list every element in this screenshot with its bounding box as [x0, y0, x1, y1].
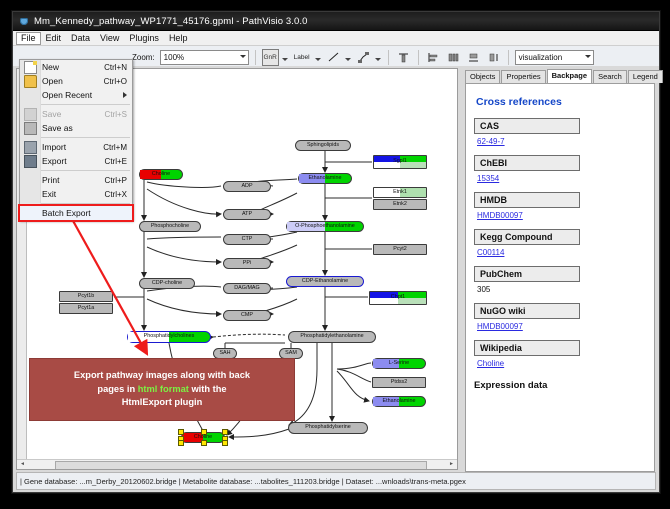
menu-bar: File Edit Data View Plugins Help [13, 31, 659, 46]
cross-references-title: Cross references [476, 96, 646, 108]
annotation-line-2-a: pages in [97, 384, 137, 394]
interaction-button[interactable] [355, 49, 372, 66]
xref-db-label-chebi: ChEBI [474, 155, 580, 171]
status-bar: | Gene database: ...m_Derby_20120602.bri… [16, 472, 656, 490]
menu-plugins[interactable]: Plugins [124, 32, 164, 45]
tab-search[interactable]: Search [593, 70, 627, 83]
window-title: Mm_Kennedy_pathway_WP1771_45176.gpml - P… [34, 16, 308, 27]
pathway-node-label: Pcyt1b [78, 294, 94, 299]
align-top-icon [397, 51, 410, 64]
zoom-label: Zoom: [132, 53, 155, 62]
new-document-icon [24, 61, 37, 74]
pathway-node-label: Ethanolamine [383, 399, 416, 404]
zoom-combobox[interactable]: 100% [160, 50, 249, 65]
file-menu-separator [41, 203, 130, 204]
file-menu-item-export[interactable]: ExportCtrl+E [20, 154, 132, 168]
align-left-icon [427, 51, 440, 64]
xref-db-label-nugo-wiki: NuGO wiki [474, 303, 580, 319]
xref-db-label-cas: CAS [474, 118, 580, 134]
pathway-node-phosphatidylcholines[interactable]: Phosphatidylcholines [127, 331, 211, 343]
pathway-node-label: Sgpl1 [393, 159, 407, 164]
pathvisio-window: Mm_Kennedy_pathway_WP1771_45176.gpml - P… [12, 11, 660, 493]
file-menu-item-label: Exit [42, 189, 56, 199]
toolbar-separator-4 [508, 50, 509, 65]
label-dropdown-icon[interactable] [315, 58, 321, 61]
pathway-node-label: Etnk2 [393, 202, 407, 207]
file-menu-item-label: Save [42, 109, 61, 119]
save-as-icon [24, 122, 37, 135]
pathway-node-pcyt1b[interactable]: Pcyt1b [59, 291, 113, 302]
pathway-node-cdp-choline[interactable]: CDP-choline [139, 278, 195, 289]
selection-handle[interactable] [178, 440, 184, 446]
pathway-node-label: Pcyt2 [393, 247, 406, 252]
menu-file[interactable]: File [16, 32, 41, 45]
tab-legend[interactable]: Legend [628, 70, 663, 83]
xref-value-kegg-compound[interactable]: C00114 [477, 248, 646, 257]
tab-properties[interactable]: Properties [501, 70, 545, 83]
file-menu-item-accelerator: Ctrl+E [105, 157, 127, 166]
pathway-node-label: Phosphatidylethanolamine [300, 334, 363, 339]
pathway-node-adp[interactable]: ADP [223, 181, 271, 192]
export-icon [24, 155, 37, 168]
file-menu-item-print[interactable]: PrintCtrl+P [20, 173, 132, 187]
pathway-node-cdp-ethanolamine[interactable]: CDP-Ethanolamine [286, 276, 364, 287]
menu-edit[interactable]: Edit [41, 32, 67, 45]
pathway-node-etnk2[interactable]: Etnk2 [373, 199, 427, 210]
file-menu-separator [41, 104, 130, 105]
toolbar-separator-3 [418, 50, 419, 65]
common-height-button[interactable] [485, 49, 502, 66]
selection-handle[interactable] [201, 440, 207, 446]
file-menu-item-label: Print [42, 175, 59, 185]
scrollbar-thumb[interactable] [55, 461, 427, 470]
pathway-node-label: ADP [241, 184, 252, 189]
pathway-node-label: CTP [242, 237, 253, 242]
side-panel: Objects Properties Backpage Search Legen… [461, 68, 656, 490]
pathway-node-label: SAM [285, 351, 297, 356]
file-menu-item-label: Batch Export [42, 208, 91, 218]
align-left-button[interactable] [425, 49, 442, 66]
annotation-highlight: html format [138, 384, 189, 394]
annotation-line-1: Export pathway images along with back [74, 369, 250, 383]
menu-data[interactable]: Data [66, 32, 95, 45]
pathway-node-choline-top[interactable]: Choline [139, 169, 183, 180]
file-menu-items: NewCtrl+NOpenCtrl+OOpen RecentSaveCtrl+S… [20, 60, 132, 220]
annotation-line-3: HtmlExport plugin [74, 396, 250, 410]
file-menu-item-exit[interactable]: ExitCtrl+X [20, 187, 132, 201]
pathway-node-ethanolamine-top[interactable]: Ethanolamine [298, 173, 352, 184]
selection-handle[interactable] [222, 429, 228, 435]
pathway-node-label: Sphingolipids [307, 143, 339, 148]
toolbar-separator-2 [388, 50, 389, 65]
title-bar: Mm_Kennedy_pathway_WP1771_45176.gpml - P… [13, 12, 659, 31]
pathway-node-label: ATP [242, 212, 252, 217]
menu-help[interactable]: Help [164, 32, 193, 45]
file-menu-dropdown[interactable]: NewCtrl+NOpenCtrl+OOpen RecentSaveCtrl+S… [19, 59, 133, 221]
common-height-icon [487, 51, 500, 64]
pathway-node-label: Phosphatidylserine [305, 425, 351, 430]
xref-value-pubchem: 305 [477, 285, 646, 294]
data-node-dropdown-icon[interactable] [282, 58, 288, 61]
pathway-node-sphingolipids[interactable]: Sphingolipids [295, 140, 351, 151]
file-menu-item-open-recent[interactable]: Open Recent [20, 88, 132, 102]
expression-data-title: Expression data [474, 380, 646, 391]
file-menu-separator [41, 137, 130, 138]
pathway-node-label: CMP [241, 313, 253, 318]
pathway-node-phosphatidylserine[interactable]: Phosphatidylserine [288, 422, 368, 434]
xref-db-label-hmdb: HMDB [474, 192, 580, 208]
open-folder-icon [24, 75, 37, 88]
pathway-node-label: Ethanolamine [309, 176, 342, 181]
file-menu-item-new[interactable]: NewCtrl+N [20, 60, 132, 74]
xref-value-chebi[interactable]: 15354 [477, 174, 646, 183]
screenshot-root: Mm_Kennedy_pathway_WP1771_45176.gpml - P… [0, 0, 670, 509]
canvas-horizontal-scrollbar[interactable]: ◄ ► [17, 459, 457, 469]
pathway-node-atp[interactable]: ATP [223, 209, 271, 220]
label-button[interactable]: Label [292, 53, 312, 62]
annotation-line-2-b: with the [189, 384, 227, 394]
pathway-node-l-serine[interactable]: L-Serine [372, 358, 426, 369]
file-menu-separator [41, 170, 130, 171]
common-width-button[interactable] [465, 49, 482, 66]
file-menu-item-save-as[interactable]: Save as [20, 121, 132, 135]
pathway-node-dag-mag[interactable]: DAG/MAG [223, 283, 271, 294]
menu-view[interactable]: View [95, 32, 124, 45]
file-menu-item-accelerator: Ctrl+N [104, 63, 127, 72]
tab-objects[interactable]: Objects [465, 70, 500, 83]
pathway-node-label: Etnk1 [393, 190, 407, 195]
xref-value-cas[interactable]: 62-49-7 [477, 137, 646, 146]
file-menu-item-label: Export [42, 156, 67, 166]
line-icon [327, 51, 340, 64]
pathway-node-label: Choline [194, 435, 212, 440]
cross-reference-list: CAS62-49-7ChEBI15354HMDBHMDB00097Kegg Co… [474, 118, 646, 368]
file-menu-item-label: Save as [42, 123, 73, 133]
pathway-node-o-phosphoethanol[interactable]: O-Phosphoethanolamine [286, 221, 364, 232]
file-menu-item-label: Open Recent [42, 90, 92, 100]
xref-value-wikipedia[interactable]: Choline [477, 359, 646, 368]
interaction-icon [357, 51, 370, 64]
pathway-node-etnk1[interactable]: Etnk1 [373, 187, 427, 198]
stack-icon [447, 51, 460, 64]
scroll-right-arrow-icon[interactable]: ► [447, 461, 456, 468]
status-bar-text: | Gene database: ...m_Derby_20120602.bri… [20, 477, 466, 486]
file-menu-item-label: New [42, 62, 59, 72]
chevron-down-icon [240, 55, 246, 58]
file-menu-item-batch-export[interactable]: Batch Export [20, 206, 132, 220]
file-menu-item-accelerator: Ctrl+X [105, 190, 127, 199]
visualization-combobox[interactable]: visualization [515, 50, 594, 65]
file-menu-item-save: SaveCtrl+S [20, 107, 132, 121]
pathway-node-label: Choline [152, 172, 170, 177]
backpage-content: Cross references CAS62-49-7ChEBI15354HMD… [465, 83, 655, 472]
file-menu-item-accelerator: Ctrl+O [104, 77, 127, 86]
pathway-node-label: DAG/MAG [234, 286, 259, 291]
pathway-node-chpt1[interactable]: Chpt1 [369, 291, 427, 305]
tab-backpage[interactable]: Backpage [547, 69, 592, 83]
selection-handle[interactable] [178, 429, 184, 435]
data-node-button[interactable]: GnR [262, 49, 279, 66]
file-menu-item-accelerator: Ctrl+P [105, 176, 127, 185]
submenu-arrow-icon [123, 92, 127, 98]
save-disk-icon [24, 108, 37, 121]
file-menu-item-accelerator: Ctrl+M [103, 143, 127, 152]
pathway-node-label: CDP-Ethanolamine [302, 279, 348, 284]
pathway-node-pcyt2[interactable]: Pcyt2 [373, 244, 427, 255]
xref-db-label-pubchem: PubChem [474, 266, 580, 282]
import-icon [24, 141, 37, 154]
file-menu-item-label: Import [42, 142, 66, 152]
pathway-node-label: Ptdss2 [391, 380, 407, 385]
selection-handle[interactable] [222, 440, 228, 446]
toolbar-separator [255, 50, 256, 65]
pathvisio-app-icon [19, 16, 30, 27]
pathway-node-label: Phosphatidylcholines [144, 334, 195, 339]
file-menu-item-label: Open [42, 76, 63, 86]
pathway-node-label: O-Phosphoethanolamine [295, 224, 355, 229]
xref-value-hmdb[interactable]: HMDB00097 [477, 211, 646, 220]
pathway-node-ethanolamine-right[interactable]: Ethanolamine [372, 396, 426, 407]
pathway-node-label: L-Serine [389, 361, 409, 366]
pathway-node-cmp[interactable]: CMP [223, 310, 271, 321]
file-menu-item-import[interactable]: ImportCtrl+M [20, 140, 132, 154]
pathway-node-phosphatidylethanol[interactable]: Phosphatidylethanolamine [288, 331, 376, 343]
line-dropdown-icon[interactable] [345, 58, 351, 61]
line-button[interactable] [325, 49, 342, 66]
pathway-node-sgpl1[interactable]: Sgpl1 [373, 155, 427, 169]
file-menu-item-open[interactable]: OpenCtrl+O [20, 74, 132, 88]
chevron-down-icon-2 [585, 55, 591, 58]
stack-button[interactable] [445, 49, 462, 66]
pathway-node-label: PPi [243, 261, 251, 266]
annotation-banner: Export pathway images along with back pa… [29, 358, 295, 421]
pathway-node-phosphocholine[interactable]: Phosphocholine [139, 221, 201, 232]
pathway-node-label: Phosphocholine [151, 224, 189, 229]
side-panel-tabs: Objects Properties Backpage Search Legen… [461, 68, 656, 83]
interaction-dropdown-icon[interactable] [375, 58, 381, 61]
xref-db-label-wikipedia: Wikipedia [474, 340, 580, 356]
pathway-node-label: SAH [219, 351, 230, 356]
scroll-left-arrow-icon[interactable]: ◄ [18, 461, 27, 468]
common-width-icon [467, 51, 480, 64]
pathway-node-label: Pcyt1a [78, 306, 94, 311]
pathway-node-label: CDP-choline [152, 281, 182, 286]
file-menu-item-accelerator: Ctrl+S [105, 110, 127, 119]
zoom-value: 100% [164, 53, 184, 62]
xref-value-nugo-wiki[interactable]: HMDB00097 [477, 322, 646, 331]
pathway-node-ptdss2[interactable]: Ptdss2 [372, 377, 426, 388]
pathway-node-ppi[interactable]: PPi [223, 258, 271, 269]
visualization-value: visualization [519, 53, 563, 62]
pathway-node-ctp[interactable]: CTP [223, 234, 271, 245]
pathway-node-label: Chpt1 [391, 295, 405, 300]
xref-db-label-kegg-compound: Kegg Compound [474, 229, 580, 245]
annotation-line-2: pages in html format with the [74, 383, 250, 397]
align-top-button[interactable] [395, 49, 412, 66]
pathway-node-pcyt1a[interactable]: Pcyt1a [59, 303, 113, 314]
